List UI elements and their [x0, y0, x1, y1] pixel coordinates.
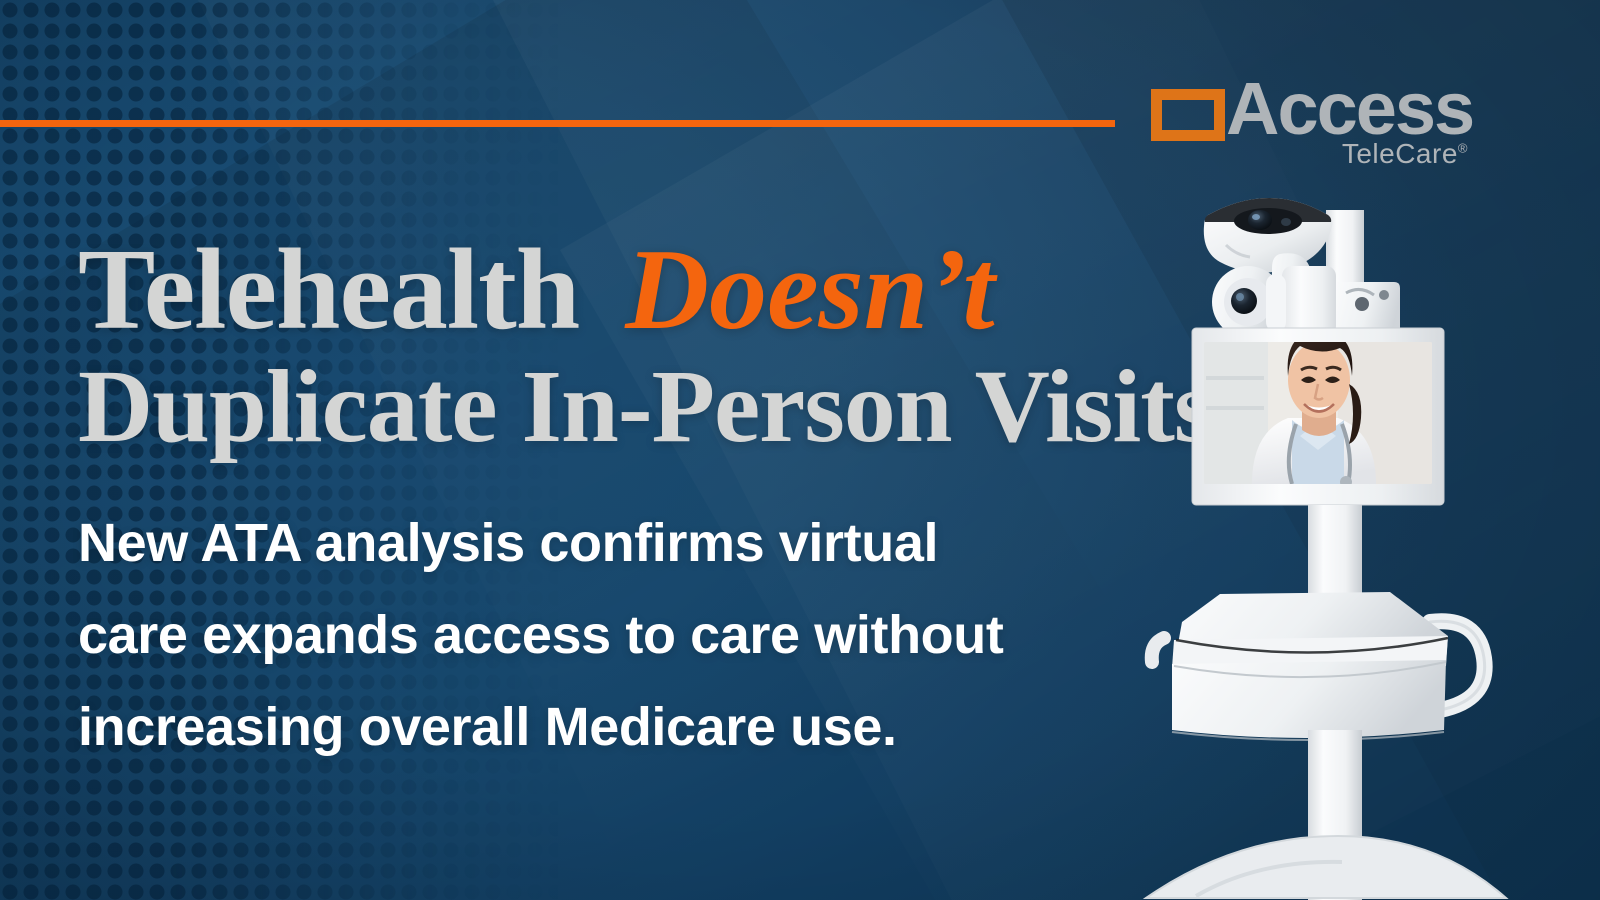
- registered-trademark-icon: ®: [1458, 141, 1468, 156]
- ptz-camera: [1204, 198, 1333, 273]
- logo-wordmark: Access: [1226, 72, 1473, 146]
- telemedicine-cart: [1130, 170, 1600, 900]
- logo-sub-wordmark: TeleCare®: [1342, 140, 1468, 168]
- logo-sub-text: TeleCare: [1342, 138, 1458, 169]
- camera-lens-main: [1248, 210, 1272, 230]
- equipment-drawer: [1152, 592, 1485, 740]
- banner-canvas: Access TeleCare® Telehealth Doesn’t Dupl…: [0, 0, 1600, 900]
- headline-block: Telehealth Doesn’t Duplicate In-Person V…: [78, 234, 1128, 458]
- subheadline-block: New ATA analysis confirms virtual care e…: [78, 497, 1108, 773]
- headline-line-1: Telehealth Doesn’t: [78, 234, 1128, 348]
- subheadline-line-2: care expands access to care without: [78, 589, 1108, 681]
- video-call-screen: [1192, 328, 1444, 505]
- access-logo-square-mark: [1151, 89, 1225, 141]
- subheadline-line-3: increasing overall Medicare use.: [78, 681, 1108, 773]
- camera-lens-secondary: [1231, 288, 1257, 314]
- subheadline-line-1: New ATA analysis confirms virtual: [78, 497, 1108, 589]
- headline-line-1-plain: Telehealth: [78, 226, 607, 354]
- headline-line-2: Duplicate In-Person Visits: [78, 356, 1128, 458]
- clinician-face: [1288, 342, 1350, 418]
- orange-horizontal-rule: [0, 120, 1115, 127]
- rolling-base: [1146, 836, 1506, 898]
- access-telecare-logo: Access TeleCare®: [1148, 78, 1498, 183]
- headline-emphasis-word: Doesn’t: [607, 226, 994, 354]
